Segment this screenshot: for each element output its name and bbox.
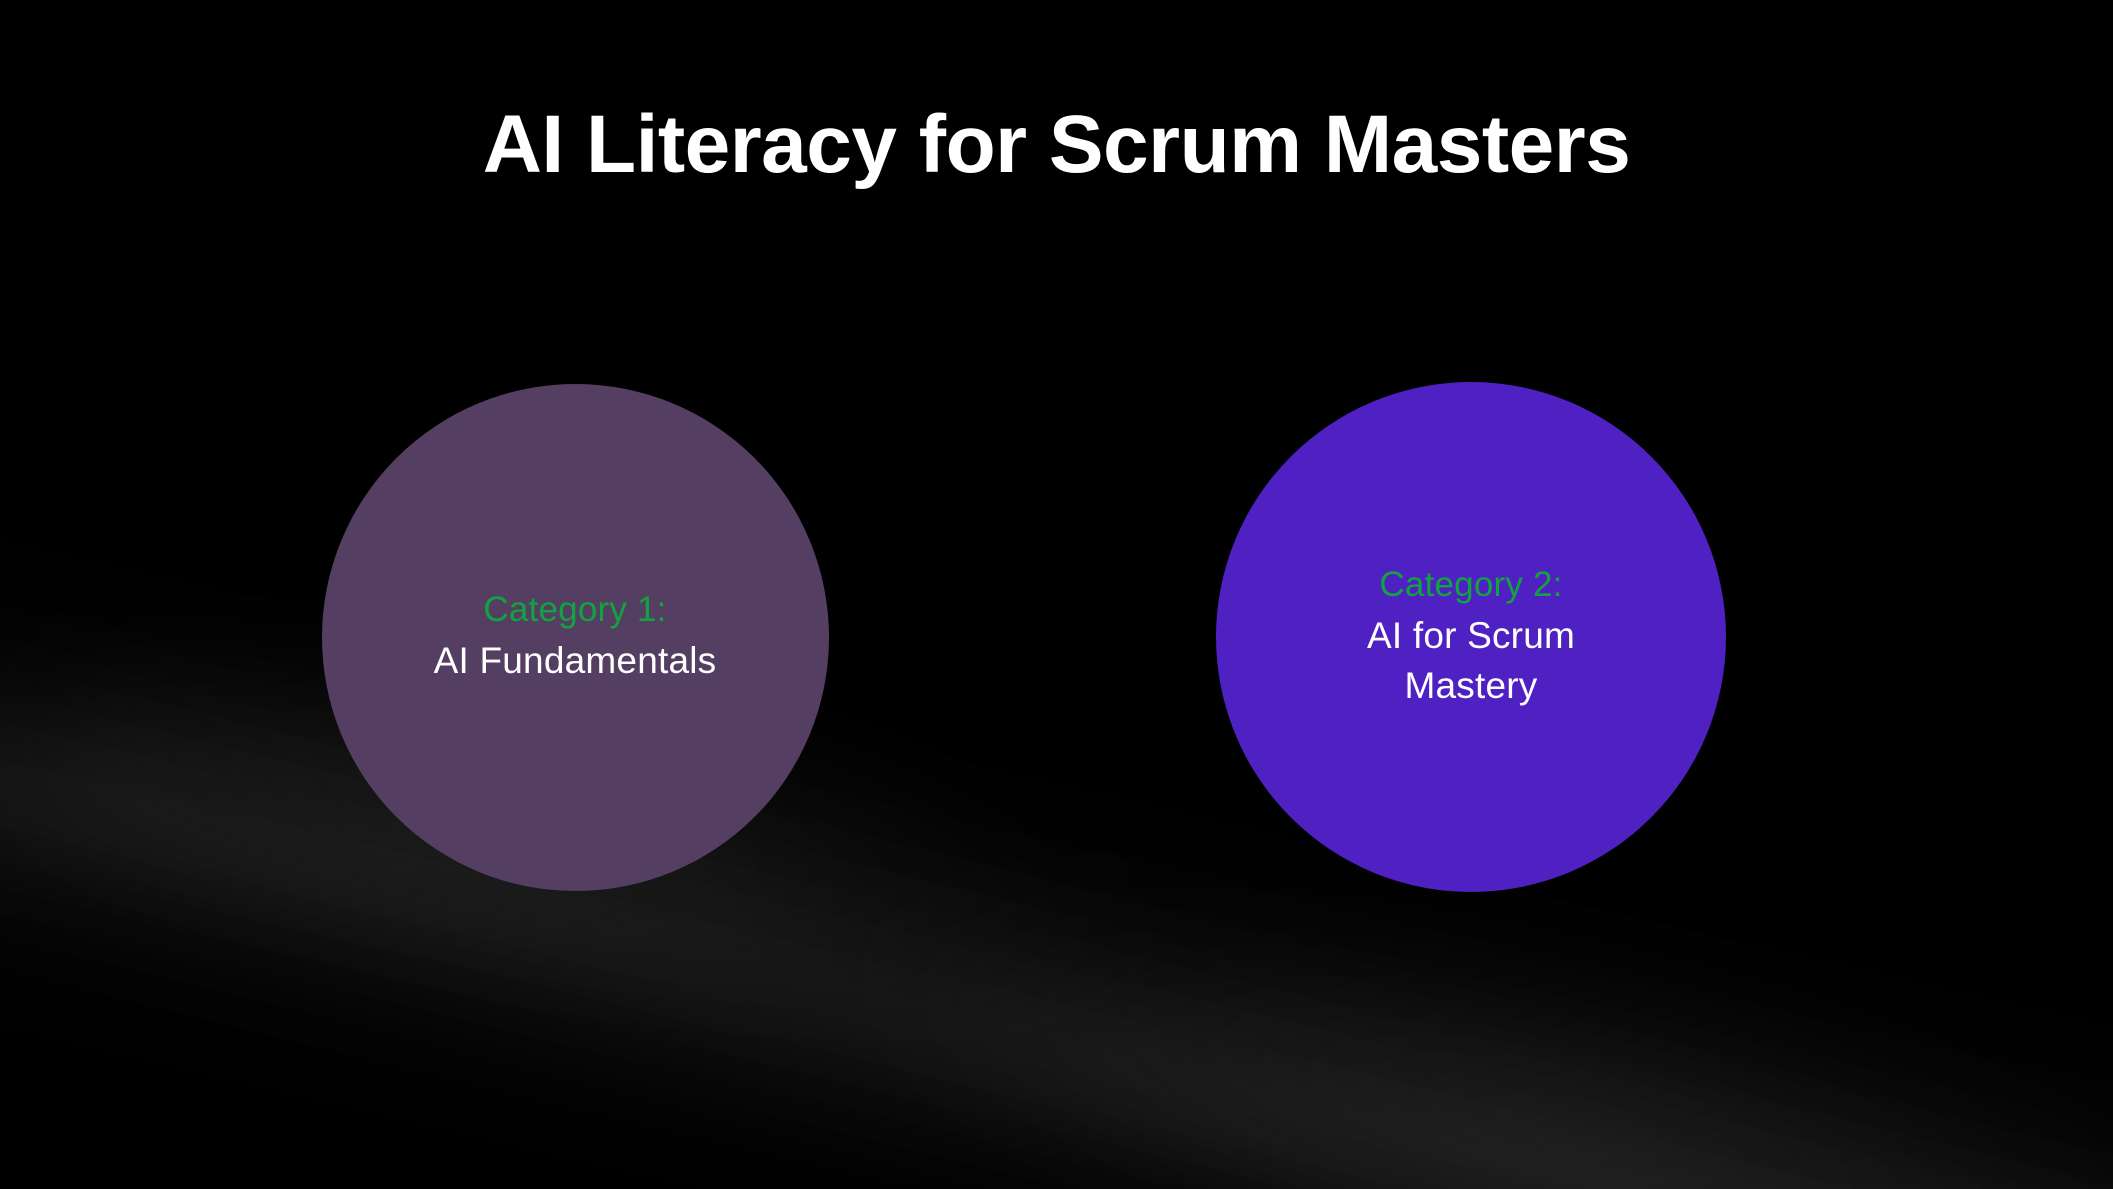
- category-2-title: AI for Scrum Mastery: [1306, 611, 1636, 710]
- page-title: AI Literacy for Scrum Masters: [0, 98, 2113, 192]
- category-circle-1[interactable]: Category 1: AI Fundamentals: [322, 384, 829, 891]
- category-circle-2[interactable]: Category 2: AI for Scrum Mastery: [1216, 382, 1726, 892]
- category-1-label: Category 1:: [483, 589, 666, 631]
- category-2-label: Category 2:: [1379, 564, 1562, 606]
- category-1-title: AI Fundamentals: [434, 636, 717, 686]
- slide-canvas: AI Literacy for Scrum Masters Category 1…: [0, 0, 2113, 1189]
